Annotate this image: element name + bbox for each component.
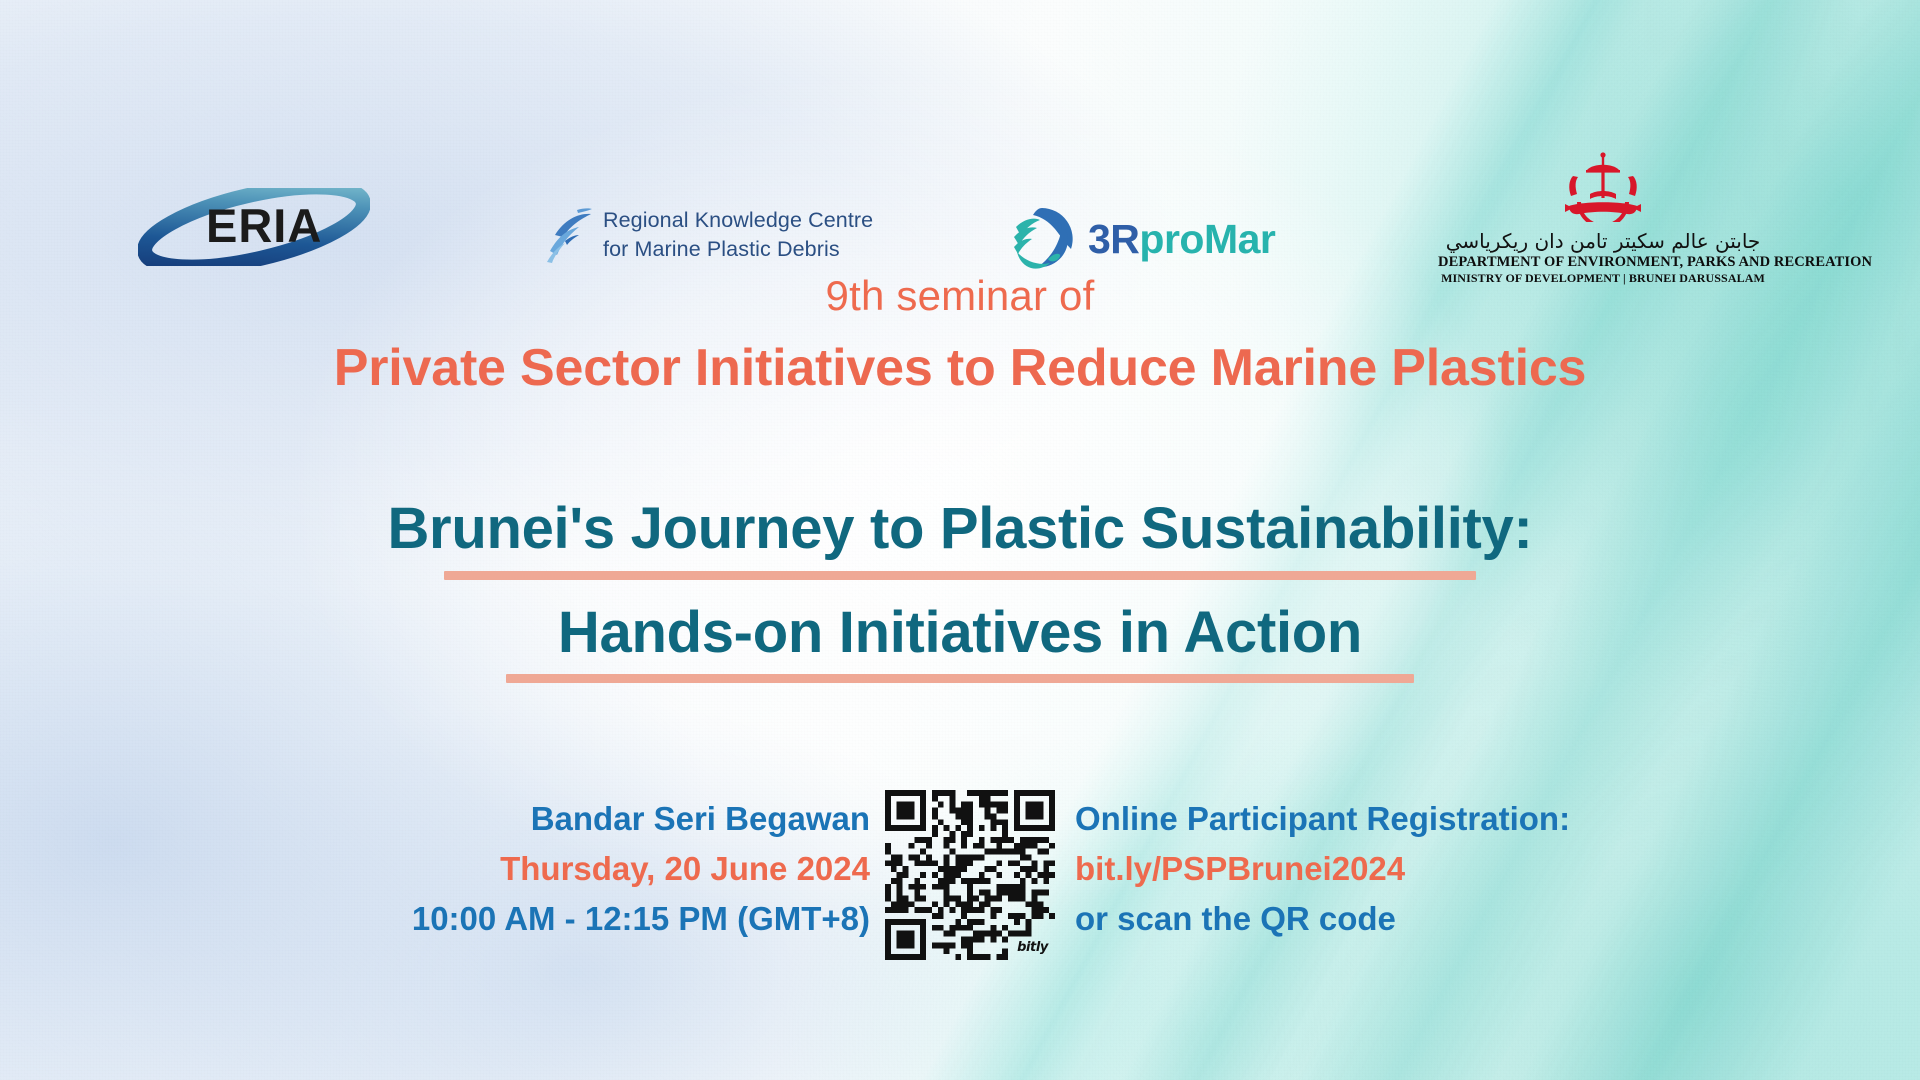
registration-heading: Online Participant Registration: bbox=[1075, 794, 1570, 844]
seminar-poster: ERIA Regional Knowledge Centre for Marin… bbox=[0, 0, 1920, 1080]
promar-promar-text: proMar bbox=[1139, 216, 1275, 262]
3rpromar-logo: 3RproMar bbox=[1008, 205, 1275, 273]
event-date: Thursday, 20 June 2024 bbox=[412, 844, 870, 894]
seminar-series-title: Private Sector Initiatives to Reduce Mar… bbox=[0, 338, 1920, 398]
registration-note: or scan the QR code bbox=[1075, 894, 1570, 944]
qr-code[interactable]: bitly bbox=[885, 790, 1055, 960]
rkc-line-2: for Marine Plastic Debris bbox=[603, 235, 873, 264]
promar-3r-text: 3R bbox=[1088, 216, 1139, 262]
event-venue: Bandar Seri Begawan bbox=[412, 794, 870, 844]
main-title-line-1: Brunei's Journey to Plastic Sustainabili… bbox=[383, 498, 1536, 561]
registration-link[interactable]: bit.ly/PSPBrunei2024 bbox=[1075, 844, 1570, 894]
main-title-line-1-block: Brunei's Journey to Plastic Sustainabili… bbox=[0, 498, 1920, 580]
eria-logo: ERIA bbox=[138, 188, 370, 266]
qr-brand-label: bitly bbox=[1017, 941, 1048, 954]
brunei-crest-icon bbox=[1438, 152, 1768, 222]
main-title-line-2: Hands-on Initiatives in Action bbox=[554, 602, 1366, 665]
event-location-block: Bandar Seri Begawan Thursday, 20 June 20… bbox=[412, 794, 870, 944]
hand-wave-circle-icon bbox=[1008, 205, 1076, 273]
eria-wordmark: ERIA bbox=[206, 202, 322, 249]
main-title-rule-1 bbox=[444, 571, 1476, 580]
main-title: Brunei's Journey to Plastic Sustainabili… bbox=[0, 498, 1920, 705]
seminar-eyebrow: 9th seminar of bbox=[0, 272, 1920, 320]
depr-arabic-text: جابتن عالم سكيتر تامن دان ريكرياسي bbox=[1438, 229, 1768, 254]
rkc-wordmark: Regional Knowledge Centre for Marine Pla… bbox=[603, 206, 873, 264]
rkc-line-1: Regional Knowledge Centre bbox=[603, 206, 873, 235]
brunei-department-of-environment-logo: جابتن عالم سكيتر تامن دان ريكرياسي DEPAR… bbox=[1438, 152, 1768, 286]
main-title-rule-2 bbox=[506, 674, 1414, 683]
logo-row: ERIA Regional Knowledge Centre for Marin… bbox=[0, 80, 1920, 200]
qr-code-image[interactable] bbox=[885, 790, 1055, 960]
wave-splash-icon bbox=[545, 205, 593, 265]
event-time: 10:00 AM - 12:15 PM (GMT+8) bbox=[412, 894, 870, 944]
promar-wordmark: 3RproMar bbox=[1088, 219, 1275, 260]
regional-knowledge-centre-logo: Regional Knowledge Centre for Marine Pla… bbox=[545, 205, 873, 265]
registration-block: Online Participant Registration: bit.ly/… bbox=[1075, 794, 1570, 944]
main-title-line-2-block: Hands-on Initiatives in Action bbox=[0, 602, 1920, 684]
depr-english-line-1: DEPARTMENT OF ENVIRONMENT, PARKS AND REC… bbox=[1438, 254, 1768, 271]
